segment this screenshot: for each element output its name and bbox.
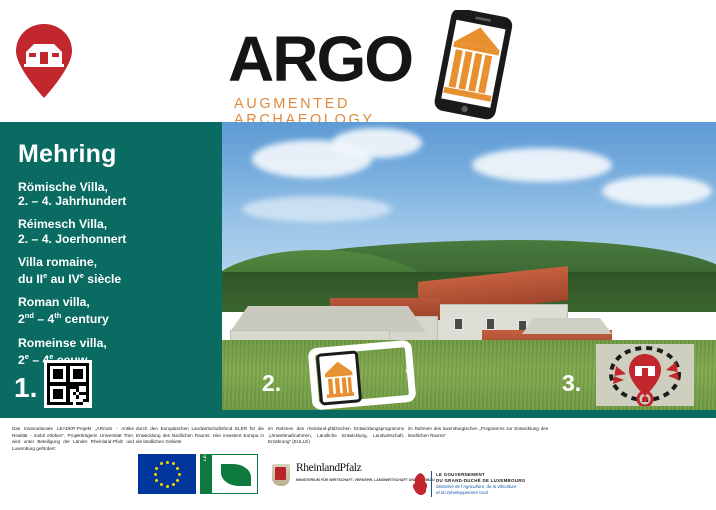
- funding-text-luxembourg: im Rahmen des luxemburgischen „Programms…: [408, 426, 548, 439]
- window: [486, 318, 495, 330]
- qr-code[interactable]: [44, 360, 92, 408]
- list-item: Réimesch Villa, 2. – 4. Joerhonnert: [18, 217, 208, 245]
- rheinland-pfalz-name: RheinlandPfalz: [296, 462, 361, 474]
- lang-nl-line1: Romeinse villa,: [18, 336, 208, 350]
- eu-flag-icon: [138, 454, 196, 494]
- footer: Das transnationale LEADER-Projekt „ARmob…: [0, 418, 716, 510]
- luxembourg-lion-icon: [410, 472, 430, 496]
- poster-root: ARGO AUGMENTED ARCHAEOLOGY: [0, 0, 716, 510]
- list-item: Römische Villa, 2. – 4. Jahrhundert: [18, 180, 208, 208]
- marker-number-one: 1.: [14, 372, 37, 404]
- funding-text-leader: Das transnationale LEADER-Projekt „ARmob…: [12, 426, 134, 452]
- lang-en-line1: Roman villa,: [18, 295, 208, 309]
- marker-number-three: 3.: [562, 370, 581, 397]
- funding-text-eler: durch den Europäischen Landwirtschaftsfo…: [136, 426, 264, 446]
- pediment: [522, 318, 612, 334]
- leader-label: LEADER: [202, 425, 207, 461]
- header: ARGO AUGMENTED ARCHAEOLOGY: [0, 0, 716, 122]
- list-item: Roman villa, 2nd – 4th century: [18, 295, 208, 326]
- cloud: [332, 128, 422, 158]
- tablet-temple-icon: [426, 10, 522, 122]
- window: [454, 318, 463, 330]
- qr-row: 1.: [14, 358, 214, 410]
- temple-icon[interactable]: [316, 350, 362, 405]
- cloud: [602, 176, 712, 206]
- argo-logo: ARGO AUGMENTED ARCHAEOLOGY: [228, 8, 518, 120]
- funding-text-eulle: im Rahmen des rheinland-pfälzischen Entw…: [268, 426, 404, 446]
- cloud: [242, 196, 392, 222]
- divider: [431, 471, 432, 497]
- argo-wordmark: ARGO: [228, 26, 458, 92]
- luxembourg-government-text: LE GOUVERNEMENT DU GRAND-DUCHÉ DE LUXEMB…: [436, 472, 546, 496]
- lang-de-line2: 2. – 4. Jahrhundert: [18, 194, 208, 208]
- leader-logo-icon: LEADER: [200, 454, 258, 494]
- language-list: Römische Villa, 2. – 4. Jahrhundert Réim…: [18, 180, 208, 376]
- list-item: Villa romaine, du IIe au IVe siècle: [18, 255, 208, 286]
- rheinland-pfalz-crest-icon: [272, 464, 290, 486]
- lang-en-line2: 2nd – 4th century: [18, 309, 208, 326]
- lang-lb-line1: Réimesch Villa,: [18, 217, 208, 231]
- map-pin-route-icon[interactable]: [596, 344, 694, 406]
- map-pin-villa-icon: [14, 22, 74, 100]
- lang-de-line1: Römische Villa,: [18, 180, 208, 194]
- info-sidebar: Mehring Römische Villa, 2. – 4. Jahrhund…: [0, 122, 222, 418]
- page-title: Mehring: [18, 140, 117, 169]
- marker-number-two: 2.: [262, 370, 281, 397]
- lang-fr-line2: du IIe au IVe siècle: [18, 269, 208, 286]
- teal-divider: [222, 410, 716, 418]
- lang-fr-line1: Villa romaine,: [18, 255, 208, 269]
- gable: [230, 306, 426, 332]
- cloud: [472, 148, 612, 182]
- lang-lb-line2: 2. – 4. Joerhonnert: [18, 232, 208, 246]
- villa-photo: 2. 3.: [222, 122, 716, 418]
